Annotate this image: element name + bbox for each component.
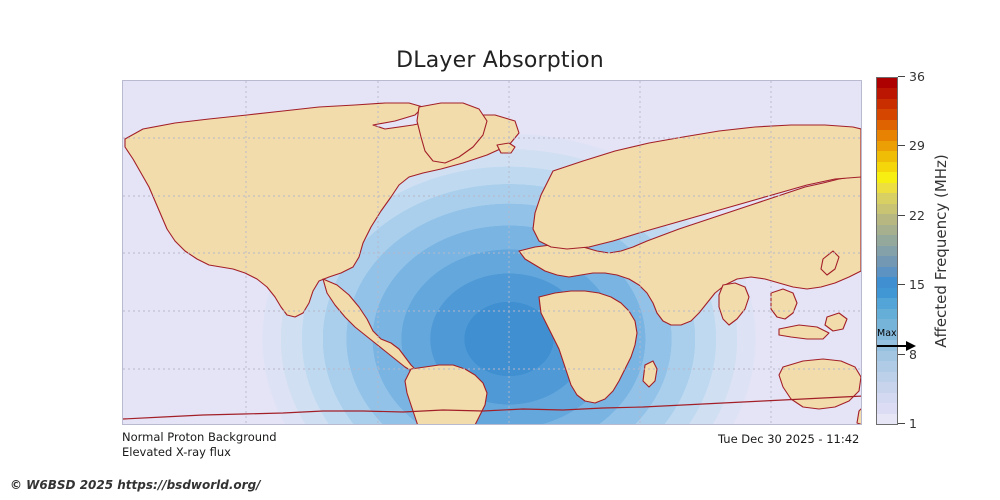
colorbar-segment: [877, 141, 897, 151]
note-xray-flux: Elevated X-ray flux: [122, 445, 231, 459]
colorbar-tick: 15: [898, 277, 925, 292]
colorbar-tick: 29: [898, 138, 925, 153]
colorbar-segment: [877, 78, 897, 88]
tick-dash-icon: [898, 76, 905, 77]
colorbar-segment: [877, 288, 897, 298]
copyright-notice: © W6BSD 2025 https://bsdworld.org/: [10, 478, 261, 492]
tick-dash-icon: [898, 215, 905, 216]
colorbar-tick-label: 1: [909, 416, 917, 431]
note-proton-background: Normal Proton Background: [122, 430, 277, 444]
colorbar-segment: [877, 204, 897, 214]
colorbar-segment: [877, 225, 897, 235]
colorbar-segment: [877, 372, 897, 382]
colorbar-tick-label: 15: [909, 277, 925, 292]
colorbar-tick: 1: [898, 416, 917, 431]
colorbar-segment: [877, 403, 897, 413]
page-title: DLayer Absorption: [0, 48, 1000, 73]
colorbar-segment: [877, 214, 897, 224]
colorbar-segment: [877, 382, 897, 392]
timestamp: Tue Dec 30 2025 - 11:42: [718, 432, 859, 446]
colorbar-tick: 22: [898, 208, 925, 223]
colorbar-segment: [877, 361, 897, 371]
tick-dash-icon: [898, 423, 905, 424]
colorbar-segment: [877, 109, 897, 119]
colorbar-segment: [877, 172, 897, 182]
colorbar: [876, 77, 898, 425]
colorbar-segment: [877, 246, 897, 256]
colorbar-segment: [877, 256, 897, 266]
colorbar-tick: 36: [898, 69, 925, 84]
max-marker: Max: [876, 328, 916, 356]
world-map-plot: [122, 80, 862, 425]
max-marker-label: Max: [877, 328, 897, 339]
map-canvas: [123, 81, 862, 425]
colorbar-segment: [877, 162, 897, 172]
colorbar-segment: [877, 309, 897, 319]
colorbar-segment: [877, 393, 897, 403]
colorbar-segment: [877, 277, 897, 287]
colorbar-segment: [877, 183, 897, 193]
colorbar-axis-label: Affected Frequency (MHz): [928, 77, 954, 425]
tick-dash-icon: [898, 145, 905, 146]
colorbar-tick-label: 22: [909, 208, 925, 223]
colorbar-segment: [877, 120, 897, 130]
colorbar-segment: [877, 88, 897, 98]
colorbar-tick-label: 36: [909, 69, 925, 84]
colorbar-tick-label: 29: [909, 138, 925, 153]
max-arrow-icon: [876, 339, 916, 353]
colorbar-segment: [877, 151, 897, 161]
colorbar-axis-label-text: Affected Frequency (MHz): [932, 154, 950, 348]
dlayer-absorption-page: DLayer Absorption: [0, 0, 1000, 500]
colorbar-segment: [877, 298, 897, 308]
colorbar-segment: [877, 267, 897, 277]
colorbar-segment: [877, 235, 897, 245]
colorbar-segment: [877, 130, 897, 140]
colorbar-segment: [877, 414, 897, 424]
colorbar-segment: [877, 193, 897, 203]
colorbar-segment: [877, 99, 897, 109]
tick-dash-icon: [898, 284, 905, 285]
